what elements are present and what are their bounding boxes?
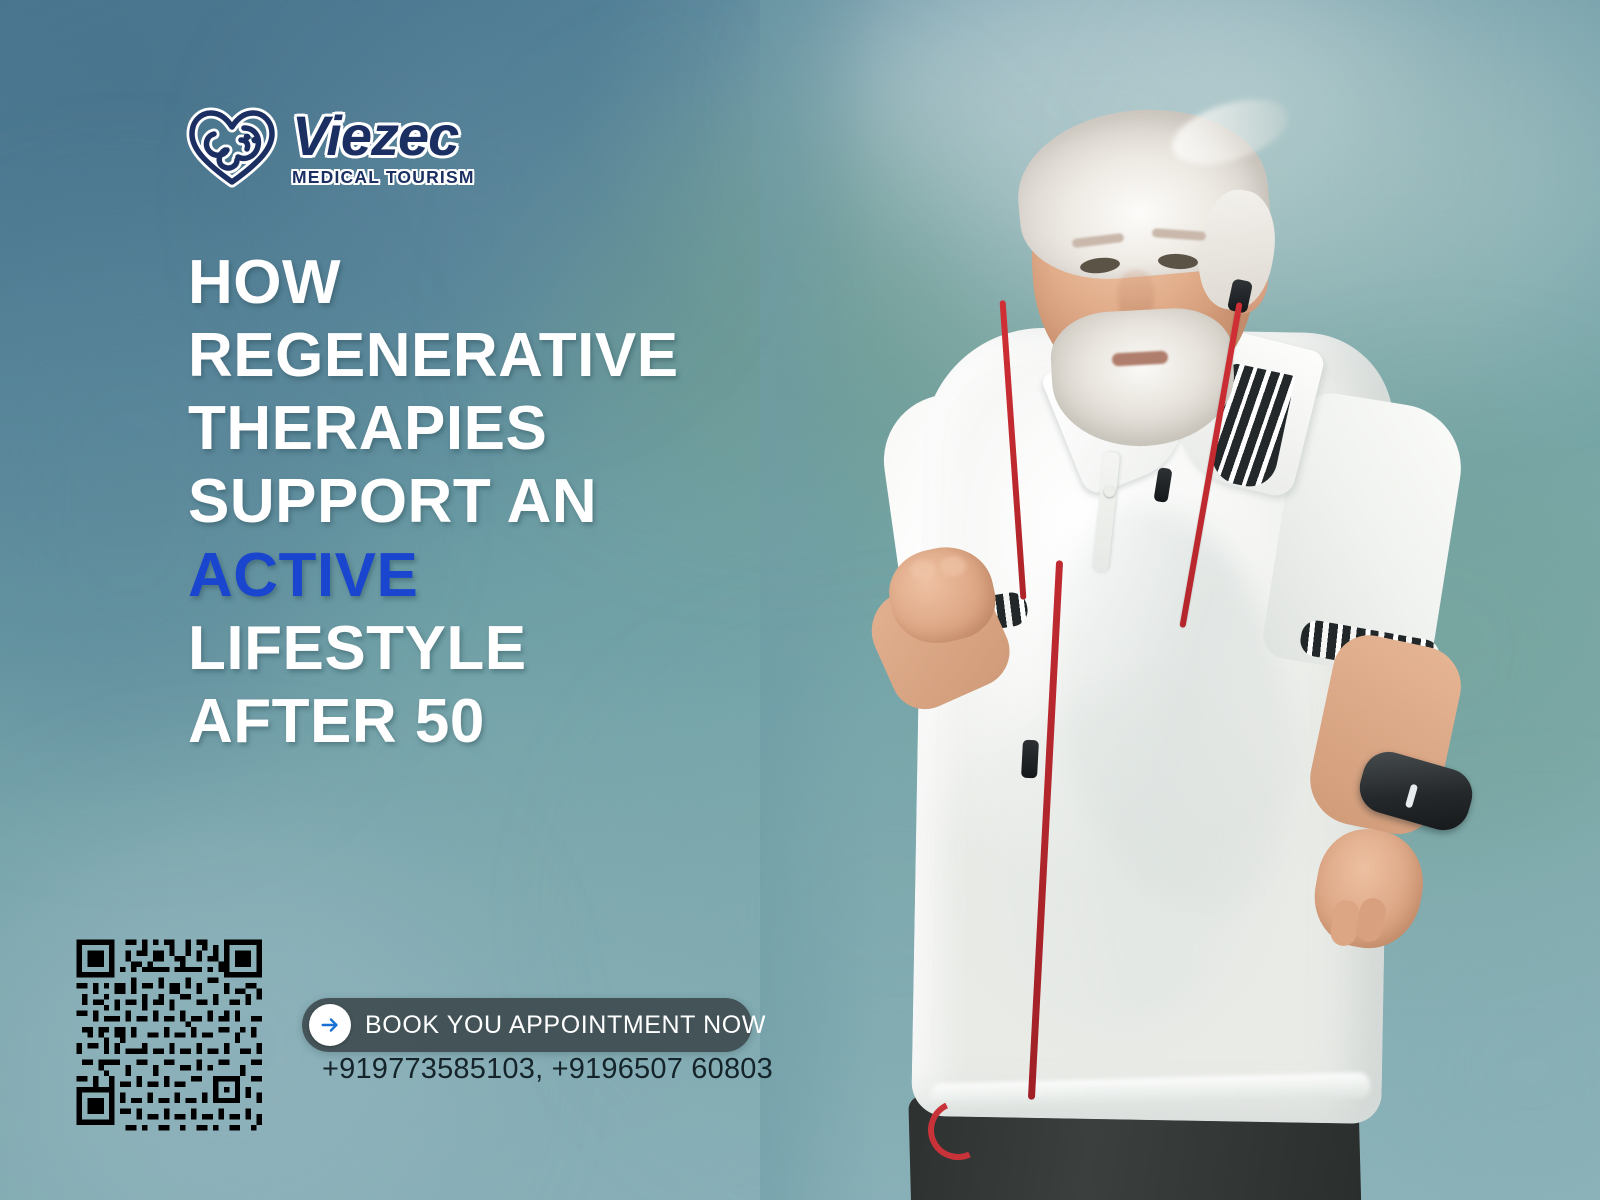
headline-line-3: THERAPIES <box>188 392 828 465</box>
brand-name: Viezec <box>292 110 475 162</box>
knuckle <box>940 556 966 576</box>
headline-line-2: REGENERATIVE <box>188 319 828 392</box>
headline-line-1: HOW <box>188 246 828 319</box>
promo-banner: Viezec MEDICAL TOURISM HOW REGENERATIVE … <box>0 0 1600 1200</box>
headline: HOW REGENERATIVE THERAPIES SUPPORT AN AC… <box>188 246 828 758</box>
earphone-cord-clip <box>1021 740 1039 779</box>
headline-line-4: SUPPORT AN <box>188 465 828 538</box>
qr-code[interactable] <box>71 934 273 1136</box>
book-appointment-label: BOOK YOU APPOINTMENT NOW <box>365 1011 766 1040</box>
arrow-right-icon <box>309 1004 351 1046</box>
brand-tagline: MEDICAL TOURISM <box>292 167 475 188</box>
qr-code-graphic <box>71 934 273 1136</box>
brand-logo[interactable]: Viezec MEDICAL TOURISM <box>184 104 475 190</box>
headline-line-5-accent: ACTIVE <box>188 539 828 612</box>
headline-line-7: AFTER 50 <box>188 685 828 758</box>
shirt-button <box>1104 486 1115 497</box>
shirt-fold <box>960 700 1260 1030</box>
book-appointment-button[interactable]: BOOK YOU APPOINTMENT NOW <box>302 998 752 1052</box>
heart-embryo-icon <box>184 104 280 190</box>
knuckle <box>910 560 936 580</box>
contact-phone-numbers[interactable]: +919773585103, +9196507 60803 <box>322 1053 773 1086</box>
headline-line-6: LIFESTYLE <box>188 612 828 685</box>
hero-photo-senior-man-jogging <box>760 0 1600 1200</box>
